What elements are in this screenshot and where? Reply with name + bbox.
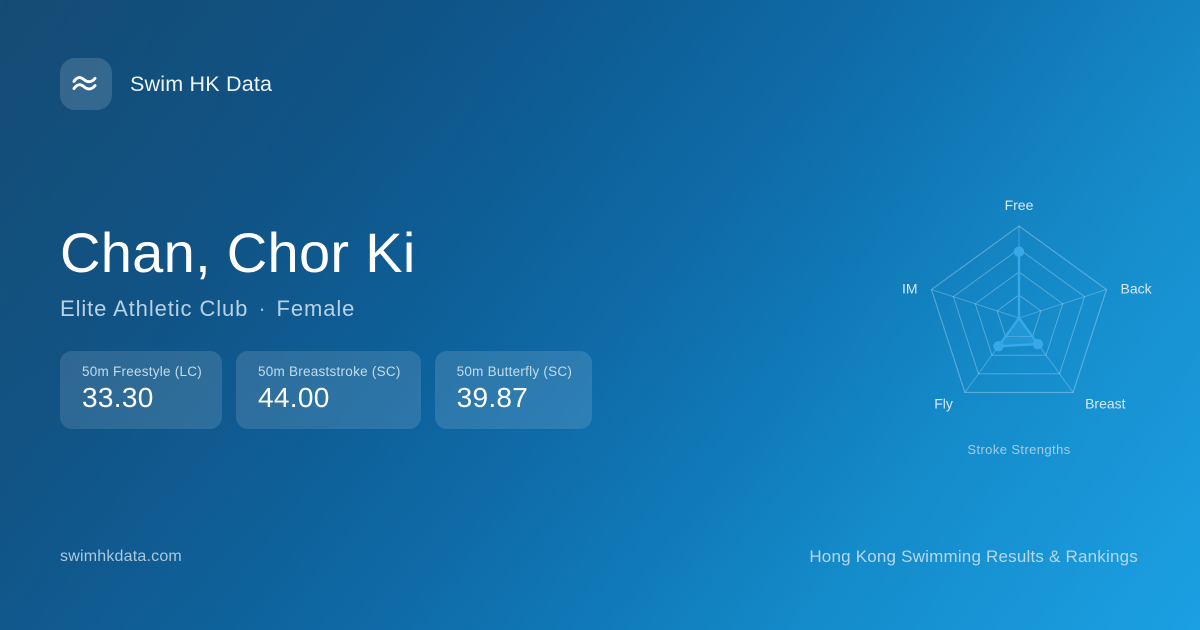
radar-axis-label-im: IM — [902, 281, 918, 297]
meta-separator: · — [258, 296, 266, 322]
stat-card-value: 39.87 — [457, 384, 573, 412]
share-card: Swim HK Data Chan, Chor Ki Elite Athleti… — [0, 0, 1200, 630]
page-title: Chan, Chor Ki — [60, 222, 416, 285]
radar-axis-label-fly: Fly — [934, 395, 953, 411]
athlete-meta: Elite Athletic Club · Female — [60, 296, 355, 322]
stat-card-list: 50m Freestyle (LC) 33.30 50m Breaststrok… — [60, 351, 592, 429]
radar-axis-labels: FreeBackBreastFlyIM — [902, 197, 1153, 411]
brand-name: Swim HK Data — [130, 72, 272, 97]
footer-site-url[interactable]: swimhkdata.com — [60, 548, 182, 566]
stat-card[interactable]: 50m Butterfly (SC) 39.87 — [435, 351, 593, 429]
athlete-gender: Female — [277, 296, 356, 322]
stat-card-value: 44.00 — [258, 384, 401, 412]
brand-lockup[interactable]: Swim HK Data — [60, 58, 272, 110]
athlete-club: Elite Athletic Club — [60, 296, 248, 322]
radar-axis-label-free: Free — [1005, 197, 1034, 213]
stat-card[interactable]: 50m Breaststroke (SC) 44.00 — [236, 351, 421, 429]
stat-card-value: 33.30 — [82, 384, 202, 412]
stat-card-label: 50m Breaststroke (SC) — [258, 364, 401, 379]
radar-axis-label-back: Back — [1121, 281, 1153, 297]
footer-tagline: Hong Kong Swimming Results & Rankings — [809, 547, 1138, 567]
chart-caption: Stroke Strengths — [869, 442, 1169, 457]
wave-icon — [60, 58, 112, 110]
stat-card[interactable]: 50m Freestyle (LC) 33.30 — [60, 351, 222, 429]
radar-axis-label-breast: Breast — [1085, 395, 1126, 411]
stat-card-label: 50m Butterfly (SC) — [457, 364, 573, 379]
radar-svg: FreeBackBreastFlyIM — [869, 170, 1169, 470]
stroke-strengths-radar-chart: FreeBackBreastFlyIM Stroke Strengths — [869, 170, 1169, 470]
stat-card-label: 50m Freestyle (LC) — [82, 364, 202, 379]
